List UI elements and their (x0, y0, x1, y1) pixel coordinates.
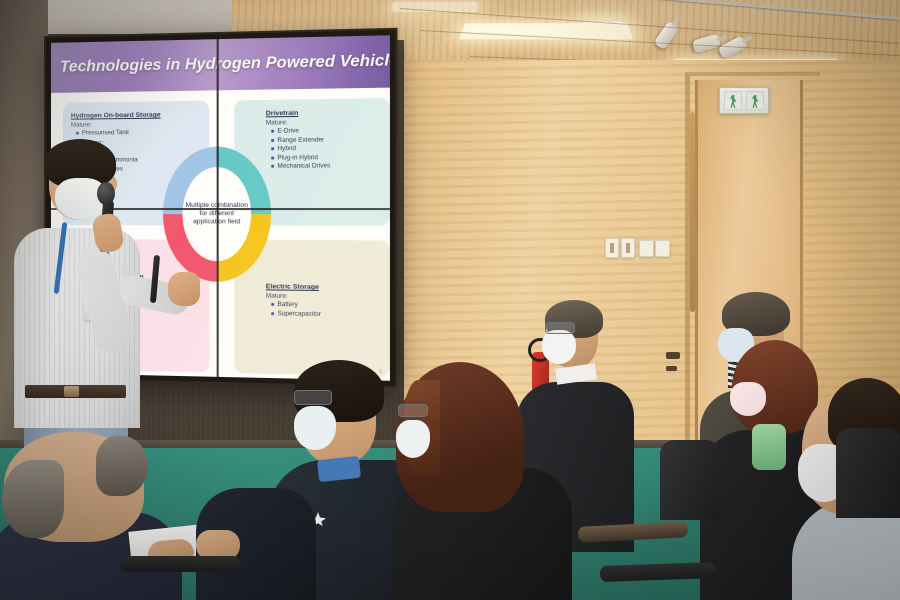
exit-running-man-icon (724, 91, 742, 110)
wall-switch-1[interactable] (605, 238, 619, 258)
face-mask (396, 420, 430, 458)
slide-header: Technologies in Hydrogen Powered Vehicle… (51, 35, 390, 93)
eyeglasses (398, 404, 428, 417)
chair-back-2 (836, 428, 900, 518)
list-item: Hybrid (271, 144, 381, 152)
exit-arrow-icon (746, 91, 764, 110)
bullet-icon (271, 156, 274, 159)
group-label: Mature: (266, 118, 381, 127)
bullet-icon (271, 165, 274, 168)
eyeglasses (294, 390, 332, 405)
slide-number: 5 (379, 369, 382, 375)
list-item: E-Drive (271, 127, 381, 135)
eyeglasses (545, 322, 575, 334)
slide-title: Technologies in Hydrogen Powered Vehicle (51, 52, 390, 77)
bullet-icon (76, 132, 79, 135)
group-label: Mature: (71, 120, 201, 129)
list-item: Supercapacitor (271, 310, 381, 319)
bullet-icon (271, 147, 274, 150)
chair-back-1 (660, 440, 720, 520)
presentation-room-photo: Technologies in Hydrogen Powered Vehicle… (0, 0, 900, 600)
bullet-icon (271, 139, 274, 142)
wall-switch-2[interactable] (621, 238, 635, 258)
wall-plate-1[interactable] (639, 240, 654, 257)
quadrant-title: Hydrogen On-board Storage (71, 111, 201, 120)
chair-tablet-arm-1 (120, 556, 240, 572)
list-item: Mechanical Drives (271, 162, 381, 170)
door-latch-icon (666, 366, 677, 371)
list-item: Range Extender (271, 136, 381, 144)
bullet-icon (271, 130, 274, 133)
door-lock-icon (666, 352, 680, 359)
list-item: Pressurised Tank (76, 129, 201, 137)
list-item: Battery (271, 301, 381, 310)
group-label: Mature: (266, 292, 381, 301)
presenter-belt-buckle (64, 386, 79, 397)
exit-sign (719, 87, 769, 114)
presenter-hand-pointing (168, 272, 200, 306)
microphone-head (97, 182, 115, 205)
face-mask (294, 406, 336, 450)
face-mask (542, 330, 576, 364)
quadrant-title: Drivetrain (266, 109, 381, 118)
quadrant-title: Electric Storage (266, 283, 381, 291)
bullet-icon (271, 312, 274, 315)
face-mask (730, 382, 766, 416)
list-item: Plug-in Hybrid (271, 153, 381, 161)
door-handle[interactable] (690, 112, 695, 312)
bullet-icon (271, 303, 274, 306)
wall-plate-2[interactable] (655, 240, 670, 257)
